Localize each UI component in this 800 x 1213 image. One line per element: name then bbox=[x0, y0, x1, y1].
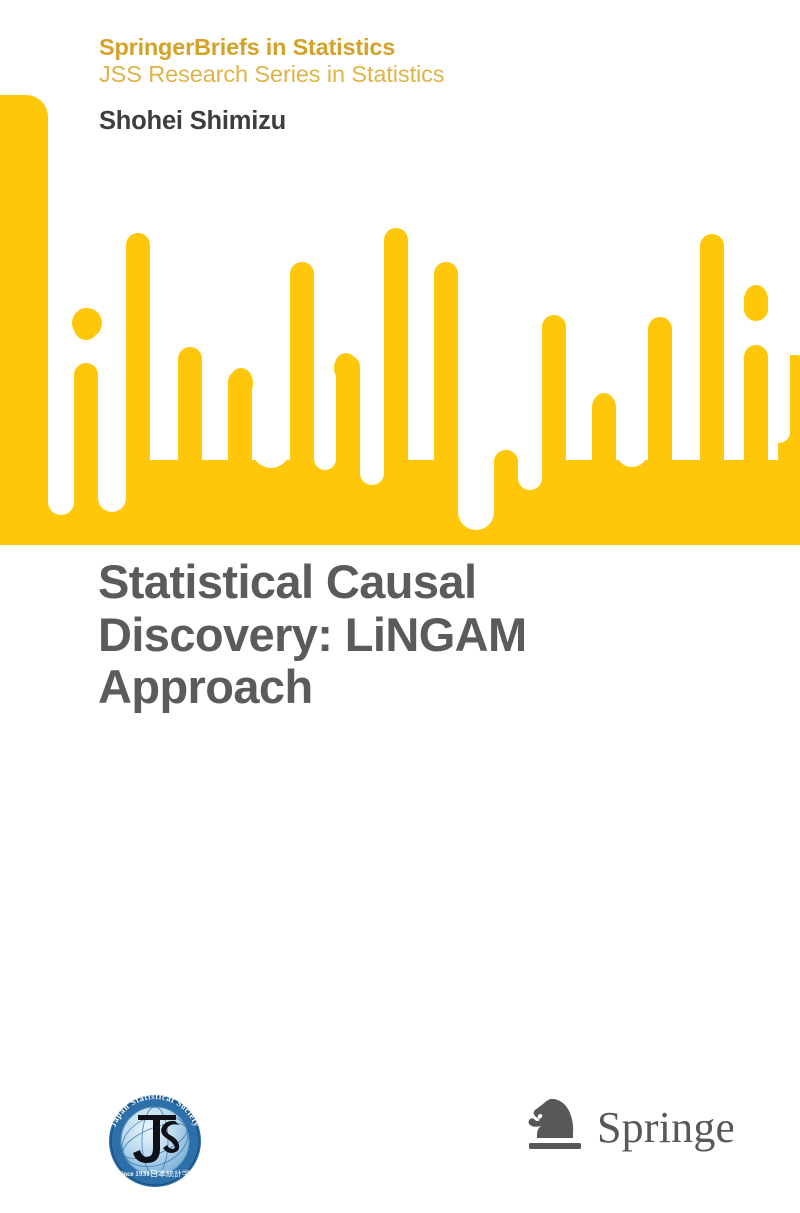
japan-statistical-society-logo: Japan Statistical Society since 1931 日本統… bbox=[100, 1089, 210, 1189]
page-title: Statistical Causal Discovery: LiNGAM App… bbox=[98, 556, 658, 714]
title-line-2: Discovery: LiNGAM bbox=[98, 609, 658, 662]
book-cover: SpringerBriefs in Statistics JSS Researc… bbox=[0, 0, 800, 1213]
author-name: Shohei Shimizu bbox=[99, 107, 286, 136]
title-line-1: Statistical Causal bbox=[98, 556, 658, 609]
title-line-3: Approach bbox=[98, 661, 658, 714]
springer-wordmark: Springer bbox=[597, 1103, 733, 1152]
springer-logo: Springer bbox=[521, 1096, 733, 1164]
emblem-since-text: since 1931 bbox=[118, 1170, 150, 1178]
emblem-japanese-text: 日本統計学会 bbox=[150, 1169, 198, 1179]
springer-logo-svg: Springer bbox=[521, 1096, 733, 1164]
series-secondary-label: JSS Research Series in Statistics bbox=[99, 61, 444, 89]
series-header: SpringerBriefs in Statistics JSS Researc… bbox=[99, 34, 444, 89]
series-primary-label: SpringerBriefs in Statistics bbox=[99, 34, 444, 61]
knight-chess-piece-icon bbox=[529, 1099, 582, 1149]
jss-emblem-svg: Japan Statistical Society since 1931 日本統… bbox=[100, 1089, 210, 1189]
